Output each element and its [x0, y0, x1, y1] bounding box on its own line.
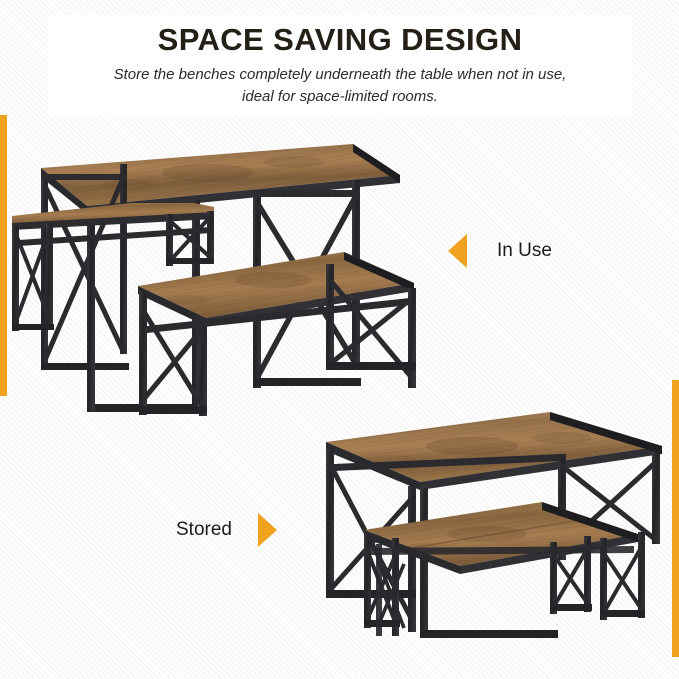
bench-right [138, 252, 416, 416]
callout-in-use: In Use [448, 234, 552, 268]
table-top-stored [326, 412, 662, 490]
subtitle-line-1: Store the benches completely underneath … [114, 66, 567, 83]
product-feature-page: SPACE SAVING DESIGN Store the benches co… [0, 0, 679, 679]
page-subtitle: Store the benches completely underneath … [58, 64, 622, 108]
in-use-scene [8, 128, 428, 423]
stored-scene [312, 398, 674, 660]
callout-stored: Stored [176, 513, 277, 547]
callout-stored-label: Stored [176, 519, 232, 541]
subtitle-line-2: ideal for space-limited rooms. [58, 86, 622, 108]
callout-in-use-label: In Use [497, 240, 552, 262]
left-accent-bar [0, 115, 7, 396]
triangle-left-icon [448, 234, 467, 268]
triangle-right-icon [258, 513, 277, 547]
page-title: SPACE SAVING DESIGN [48, 22, 632, 58]
